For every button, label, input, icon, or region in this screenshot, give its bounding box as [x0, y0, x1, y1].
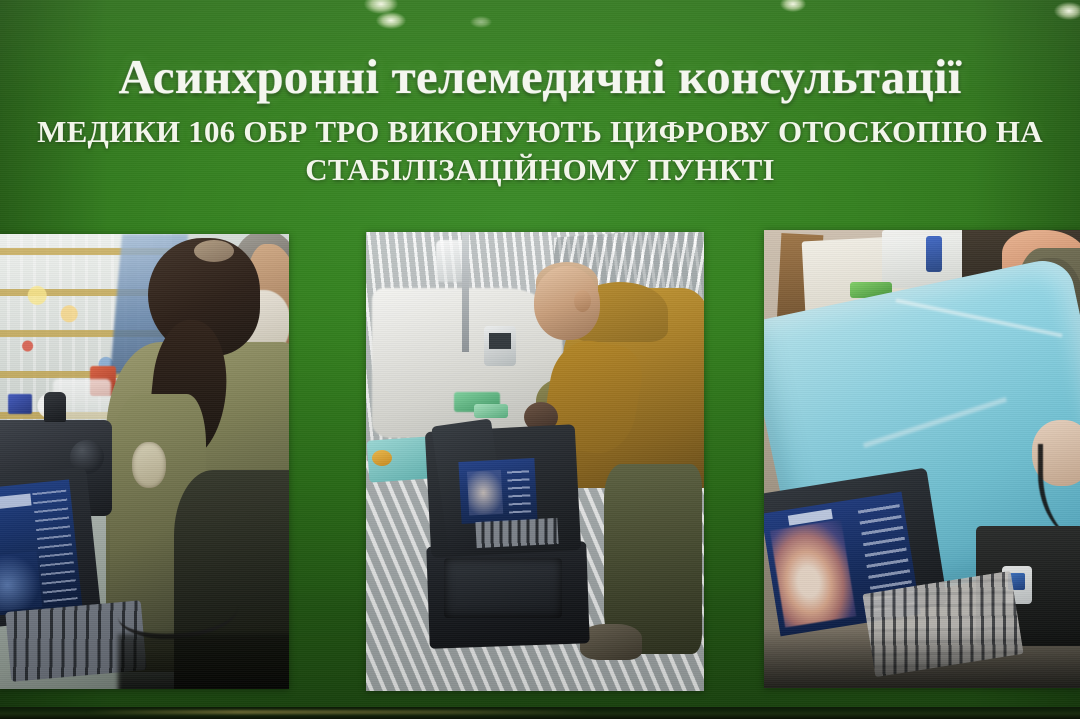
photo-medic-performing-digital-otoscopy — [366, 232, 704, 691]
photo-center-scene — [366, 232, 704, 691]
photo-right-scene — [764, 230, 1080, 688]
slide-subtitle-line-1: МЕДИКИ 106 ОБР ТРО ВИКОНУЮТЬ ЦИФРОВУ ОТО… — [35, 113, 1045, 151]
rugged-laptop-screen — [458, 458, 537, 524]
laptop-keyboard — [475, 518, 558, 548]
photo-left-scene — [0, 234, 289, 689]
slide-subtitle: МЕДИКИ 106 ОБР ТРО ВИКОНУЮТЬ ЦИФРОВУ ОТО… — [35, 113, 1045, 189]
slide-heading-block: Асинхронні телемедичні консультації МЕДИ… — [0, 52, 1080, 189]
rugged-laptop-screen — [0, 479, 82, 616]
otoscopy-image — [770, 519, 856, 627]
slide-title: Асинхронні телемедичні консультації — [0, 52, 1080, 103]
presentation-slide: Асинхронні телемедичні консультації МЕДИ… — [0, 0, 1080, 719]
slide-subtitle-line-2: СТАБІЛІЗАЦІЙНОМУ ПУНКТІ — [35, 151, 1045, 189]
photo-medic-with-rugged-laptop — [0, 234, 289, 689]
photo-otoscopy-image-on-laptop-screen — [764, 230, 1080, 688]
